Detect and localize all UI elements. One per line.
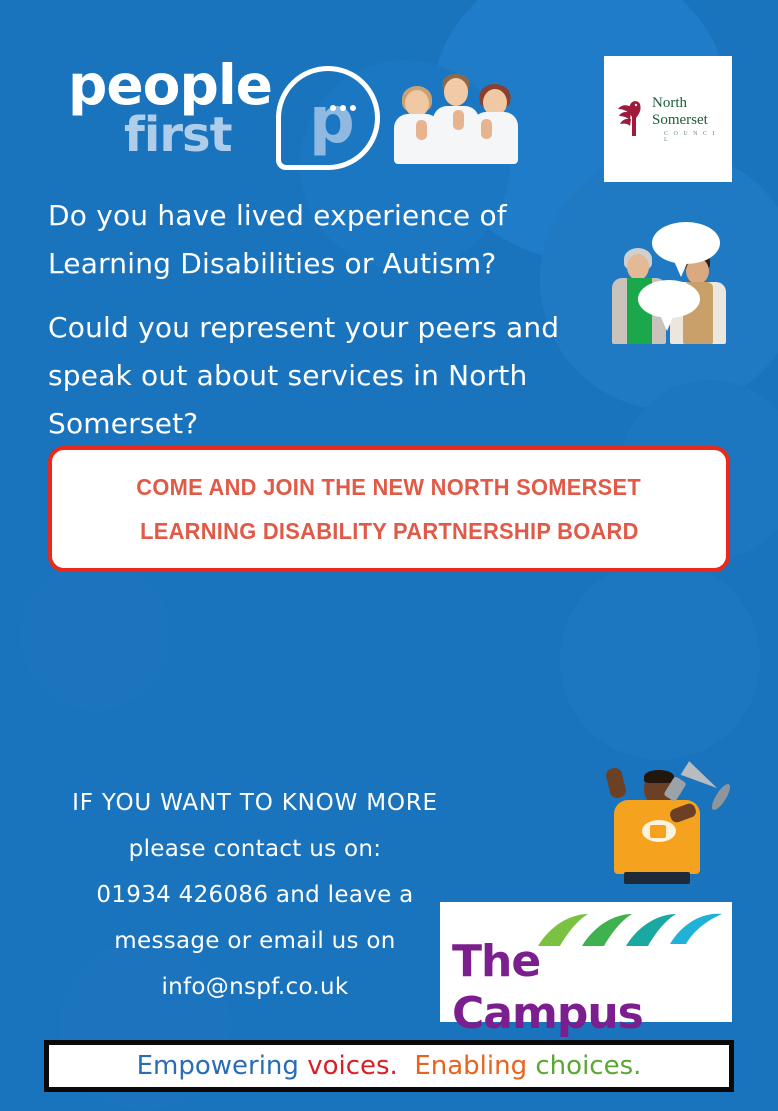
council-name-line3: C O U N C I L <box>664 131 720 143</box>
poster-root: people first p <box>0 0 778 1111</box>
tagline-word-choices: choices. <box>535 1051 641 1081</box>
footer-tagline-bar: Empowering voices. Enabling choices. <box>44 1040 734 1092</box>
intro-question-2: Could you represent your peers and speak… <box>48 304 628 448</box>
contact-email-lead: message or email us on <box>40 918 470 964</box>
logo-word-people: people <box>68 58 272 113</box>
callout-box: COME AND JOIN THE NEW NORTH SOMERSET LEA… <box>48 446 730 572</box>
tagline-word-voices: voices. <box>307 1051 406 1081</box>
header-band: people first p <box>0 0 778 190</box>
photo-two-people-talking <box>608 218 732 344</box>
north-somerset-council-logo: North Somerset C O U N C I L <box>604 56 732 182</box>
speech-bubble-top <box>652 222 720 264</box>
council-name-line1: North <box>652 96 720 111</box>
speech-bubble-icon: p <box>276 66 380 170</box>
contact-email[interactable]: info@nspf.co.uk <box>40 964 470 1010</box>
contact-heading: IF YOU WANT TO KNOW MORE <box>40 780 470 826</box>
contact-instruction: please contact us on: <box>40 826 470 872</box>
callout-line-1: COME AND JOIN THE NEW NORTH SOMERSET <box>137 465 642 509</box>
the-campus-logo: The Campus <box>440 902 732 1022</box>
wyvern-emblem-icon <box>618 98 650 138</box>
speech-bubble-bottom <box>638 280 700 318</box>
intro-text-block: Do you have lived experience of Learning… <box>48 192 628 448</box>
logo-letter-p: p <box>309 91 359 155</box>
photo-megaphone-man <box>598 762 730 884</box>
photo-thumbs-up-group <box>392 58 520 164</box>
tagline-word-empowering: Empowering <box>137 1051 308 1081</box>
date-time-row: Mon Tue Wed Thu Fri Sat Sun Thursday Nov… <box>0 600 778 770</box>
tagline-word-enabling: Enabling <box>406 1051 535 1081</box>
council-name-line2: Somerset <box>652 113 720 128</box>
intro-question-1: Do you have lived experience of Learning… <box>48 192 628 288</box>
campus-wordmark: The Campus <box>452 936 732 1040</box>
people-first-logo: people first p <box>68 58 378 173</box>
contact-phone[interactable]: 01934 426086 and leave a <box>40 872 470 918</box>
contact-block: IF YOU WANT TO KNOW MORE please contact … <box>40 780 470 1010</box>
ellipsis-dots-icon <box>330 105 356 117</box>
callout-line-2: LEARNING DISABILITY PARTNERSHIP BOARD <box>140 509 639 553</box>
logo-word-first: first <box>124 111 232 159</box>
